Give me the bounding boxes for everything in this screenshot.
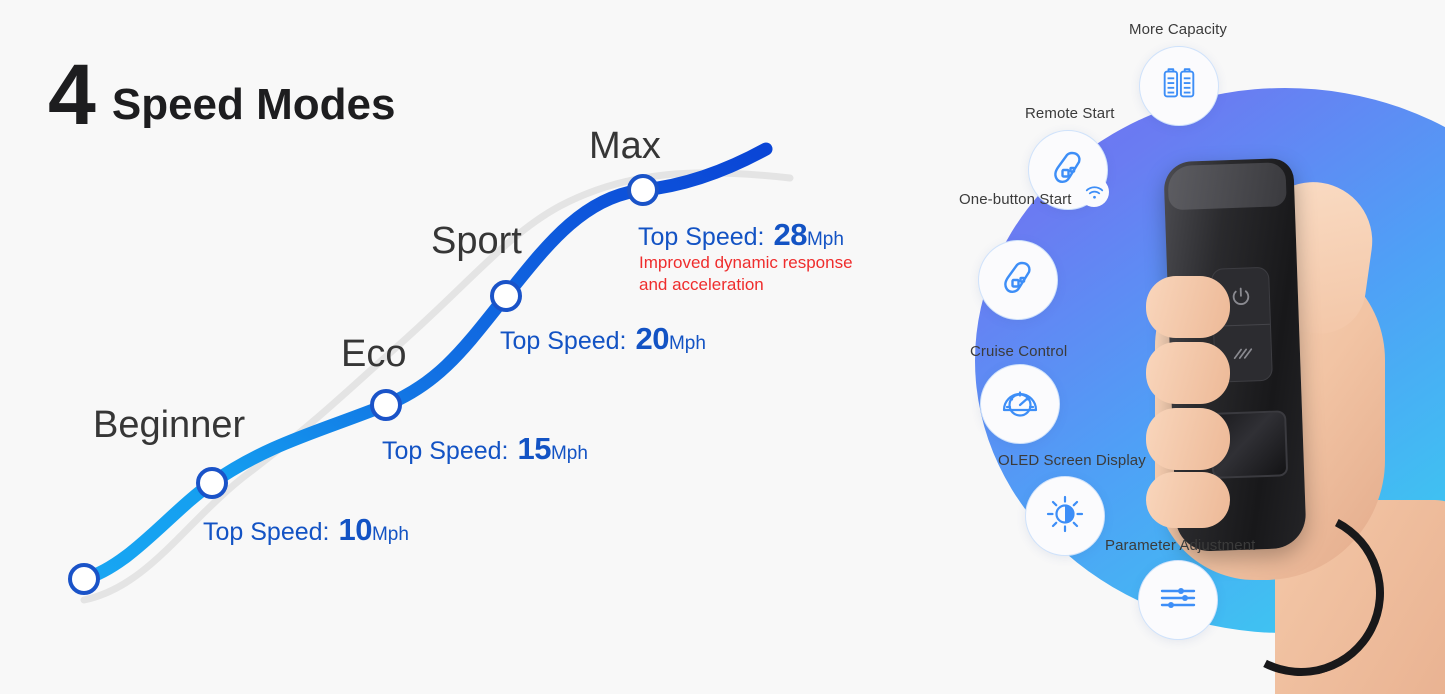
- feature-label-more-capacity: More Capacity: [1129, 21, 1227, 38]
- speed-prefix-eco: Top Speed:: [382, 437, 509, 465]
- feature-label-oled-screen-display: OLED Screen Display: [998, 452, 1146, 469]
- mode-label-beginner: Beginner: [93, 404, 245, 447]
- speed-label-eco: Top Speed:15Mph: [382, 431, 588, 467]
- speed-value-eco: 15: [518, 431, 551, 466]
- brightness-icon: [1042, 491, 1088, 542]
- mode-label-eco: Eco: [341, 333, 406, 376]
- curve-node-beginner[interactable]: [198, 469, 226, 497]
- curve-node-origin[interactable]: [70, 565, 98, 593]
- battery-icon: [1158, 63, 1200, 110]
- feature-icon-oled-screen-display[interactable]: [1025, 476, 1105, 556]
- curve-node-eco[interactable]: [372, 391, 400, 419]
- remote-icon: [995, 255, 1041, 306]
- speed-prefix-sport: Top Speed:: [500, 327, 627, 355]
- speed-prefix-max: Top Speed:: [638, 223, 765, 251]
- speed-value-beginner: 10: [339, 512, 372, 547]
- speed-label-beginner: Top Speed:10Mph: [203, 512, 409, 548]
- product-illustration-panel: More Capacity Remote Start: [920, 0, 1445, 694]
- finger-index: [1146, 276, 1230, 338]
- speed-value-sport: 20: [636, 321, 669, 356]
- remote-top-lip: [1167, 162, 1286, 210]
- finger-pinky: [1146, 472, 1230, 528]
- speed-mode-chart: 4 Speed Modes: [0, 0, 920, 694]
- speed-unit-sport: Mph: [669, 333, 706, 354]
- feature-label-parameter-adjustment: Parameter Adjustment: [1105, 537, 1255, 554]
- curve-node-max[interactable]: [629, 176, 657, 204]
- feature-icon-more-capacity[interactable]: [1139, 46, 1219, 126]
- mode-label-max: Max: [589, 125, 661, 168]
- speed-label-max: Top Speed:28Mph: [638, 217, 844, 253]
- feature-icon-cruise-control[interactable]: [980, 364, 1060, 444]
- feature-label-one-button-start: One-button Start: [959, 191, 1072, 208]
- mode-label-sport: Sport: [431, 220, 522, 263]
- feature-label-cruise-control: Cruise Control: [970, 343, 1067, 360]
- curve-node-sport[interactable]: [492, 282, 520, 310]
- speedometer-icon: [997, 379, 1043, 430]
- speed-unit-eco: Mph: [551, 443, 588, 464]
- speed-prefix-beginner: Top Speed:: [203, 518, 330, 546]
- speed-curve-line: [84, 149, 766, 579]
- wifi-badge-icon: [1079, 177, 1109, 207]
- speed-unit-beginner: Mph: [372, 524, 409, 545]
- feature-icon-one-button-start[interactable]: [978, 240, 1058, 320]
- speed-unit-max: Mph: [807, 229, 844, 250]
- speed-curve-svg: [0, 0, 920, 694]
- sliders-icon: [1155, 575, 1201, 626]
- feature-icon-parameter-adjustment[interactable]: [1138, 560, 1218, 640]
- speed-modes-infographic: 4 Speed Modes: [0, 0, 1445, 694]
- finger-middle: [1146, 342, 1230, 404]
- finger-ring: [1146, 408, 1230, 470]
- speed-label-sport: Top Speed:20Mph: [500, 321, 706, 357]
- feature-label-remote-start: Remote Start: [1025, 105, 1115, 122]
- speed-value-max: 28: [774, 217, 807, 252]
- max-mode-note: Improved dynamic response and accelerati…: [639, 252, 874, 296]
